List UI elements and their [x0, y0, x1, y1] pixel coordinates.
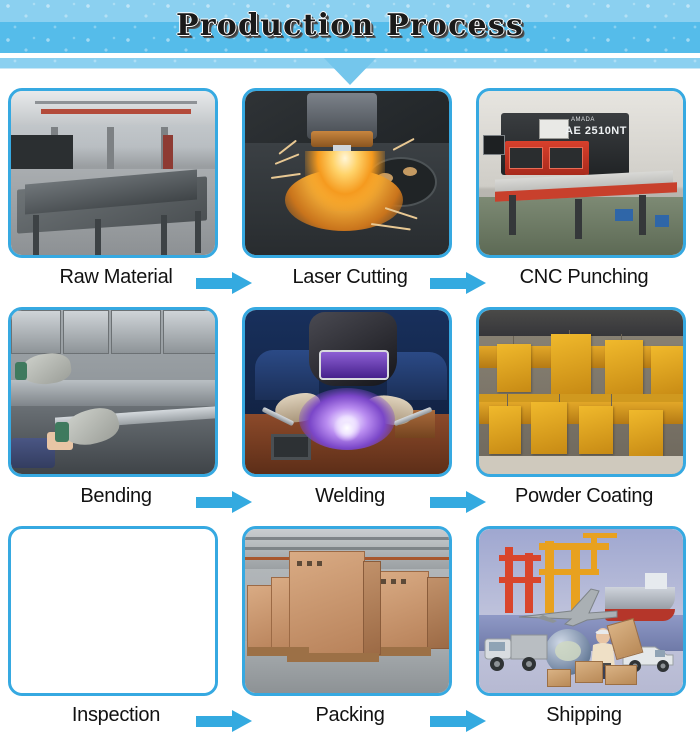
machine-brand: AMADA — [571, 117, 595, 123]
cnc-punching-photo: AMADA AE 2510NT — [479, 91, 683, 255]
truck-icon — [483, 633, 549, 673]
step-image-card[interactable] — [8, 88, 218, 258]
process-step-shipping[interactable]: Shipping — [476, 526, 692, 727]
step-image-card[interactable]: AMADA AE 2510NT — [476, 88, 686, 258]
step-label: Powder Coating — [476, 485, 692, 508]
step-label: Packing — [242, 704, 458, 727]
inspection-photo — [11, 529, 215, 693]
process-step-packing[interactable]: Packing — [242, 526, 458, 727]
process-row-3: Inspection — [0, 526, 700, 745]
welding-photo — [245, 310, 449, 474]
bending-photo — [11, 310, 215, 474]
step-image-card[interactable] — [476, 526, 686, 696]
process-step-laser-cutting[interactable]: Laser Cutting — [242, 88, 458, 289]
process-step-inspection[interactable]: Inspection — [8, 526, 224, 727]
step-label: Raw Material — [8, 266, 224, 289]
process-grid: Raw Material — [0, 88, 700, 745]
step-image-card[interactable] — [8, 307, 218, 477]
step-image-card[interactable] — [8, 526, 218, 696]
step-label: CNC Punching — [476, 266, 692, 289]
step-label: Welding — [242, 485, 458, 508]
process-step-powder-coating[interactable]: Powder Coating — [476, 307, 692, 508]
machine-model: AE 2510NT — [565, 125, 627, 137]
step-image-card[interactable] — [242, 307, 452, 477]
step-label: Inspection — [8, 704, 224, 727]
chevron-down-triangle-icon — [324, 58, 376, 85]
packing-photo — [245, 529, 449, 693]
step-label: Shipping — [476, 704, 692, 727]
step-label: Laser Cutting — [242, 266, 458, 289]
shipping-photo — [479, 529, 683, 693]
laser-cutting-photo — [245, 91, 449, 255]
step-label: Bending — [8, 485, 224, 508]
step-image-card[interactable] — [242, 526, 452, 696]
powder-coating-photo — [479, 310, 683, 474]
raw-material-photo — [11, 91, 215, 255]
process-step-cnc-punching[interactable]: AMADA AE 2510NT — [476, 88, 692, 289]
process-step-raw-material[interactable]: Raw Material — [8, 88, 224, 289]
process-row-2: Bending — [0, 307, 700, 526]
airplane-icon — [513, 587, 623, 627]
step-image-card[interactable] — [476, 307, 686, 477]
process-step-bending[interactable]: Bending — [8, 307, 224, 508]
process-row-1: Raw Material — [0, 88, 700, 307]
process-step-welding[interactable]: Welding — [242, 307, 458, 508]
step-image-card[interactable] — [242, 88, 452, 258]
page-title: Production Process — [0, 8, 700, 43]
